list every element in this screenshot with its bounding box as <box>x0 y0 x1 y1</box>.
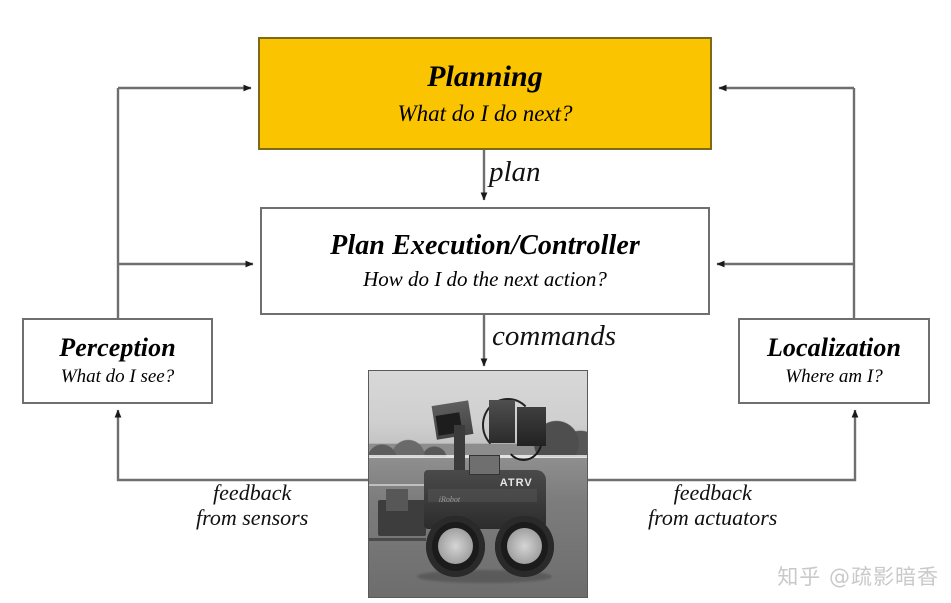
node-localization-subtitle: Where am I? <box>785 367 882 388</box>
node-perception-subtitle: What do I see? <box>61 367 174 388</box>
robot-photo: ATRV iRobot <box>368 370 588 598</box>
node-plan-execution[interactable]: Plan Execution/Controller How do I do th… <box>260 207 710 315</box>
photo-rail <box>369 538 426 541</box>
diagram-canvas: Planning What do I do next? Plan Executi… <box>0 0 951 603</box>
node-localization-title: Localization <box>767 334 901 361</box>
edge-feedback-sensors <box>118 410 368 480</box>
node-planning-subtitle: What do I do next? <box>397 101 572 126</box>
node-localization[interactable]: Localization Where am I? <box>738 318 930 404</box>
robot-side-arm-joint <box>386 489 408 512</box>
node-plan-execution-title: Plan Execution/Controller <box>330 231 640 260</box>
robot-body-label: ATRV <box>500 477 533 489</box>
node-plan-execution-subtitle: How do I do the next action? <box>363 268 607 291</box>
robot-mast <box>454 425 465 475</box>
zhihu-watermark: 知乎 @疏影暗香 <box>777 561 939 591</box>
robot-wheel-hub-front <box>438 528 473 564</box>
robot-maker-label: iRobot <box>439 495 460 504</box>
node-perception-title: Perception <box>59 334 176 361</box>
node-perception[interactable]: Perception What do I see? <box>22 318 213 404</box>
node-planning-title: Planning <box>427 61 543 93</box>
edge-label-plan: plan <box>489 156 541 188</box>
edge-label-feedback-from-actuators: feedback from actuators <box>648 481 777 530</box>
edge-label-feedback-from-sensors: feedback from sensors <box>196 481 308 530</box>
robot-sensor-box-b <box>489 400 515 443</box>
node-planning[interactable]: Planning What do I do next? <box>258 37 712 150</box>
photo-trees <box>369 407 587 459</box>
edge-feedback-actuators <box>588 410 855 480</box>
edge-label-commands: commands <box>492 320 616 352</box>
robot-sensor-box-c <box>517 407 545 445</box>
robot-display-panel <box>469 455 499 475</box>
